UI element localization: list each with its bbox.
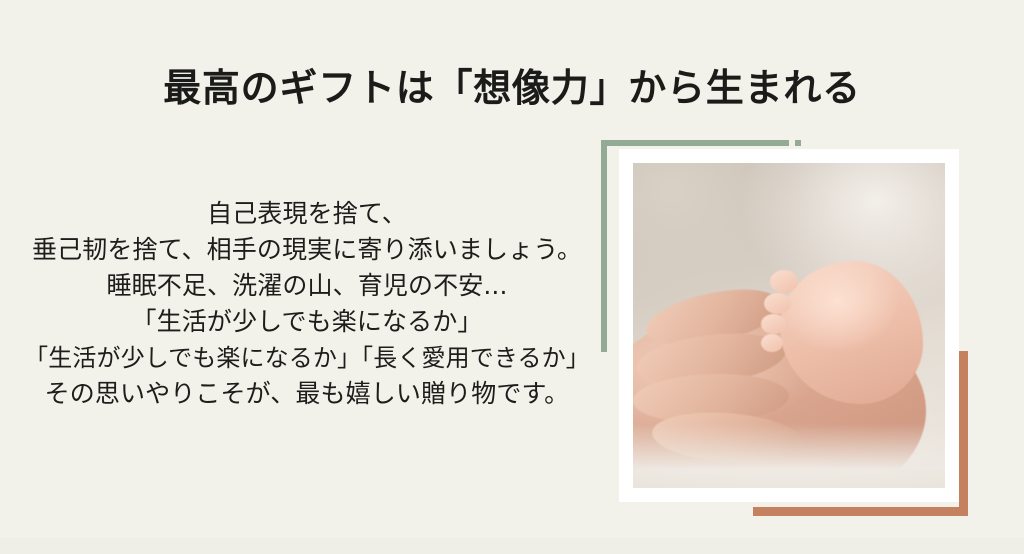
body-line-6: その思いやりこそが、最も嬉しい贈り物です。 xyxy=(24,376,590,412)
body-line-2: 垂己韧を捨て、相手の現実に寄り添いましょう。 xyxy=(24,232,590,268)
photo-card xyxy=(619,149,959,502)
body-line-4: 「生活が少しでも楽になるか」 xyxy=(24,304,590,340)
photo-composition xyxy=(598,137,974,522)
body-line-1: 自己表現を捨て、 xyxy=(24,196,590,232)
body-copy: 自己表現を捨て、 垂己韧を捨て、相手の現実に寄り添いましょう。 睡眠不足、洗濯の… xyxy=(24,196,590,412)
body-line-3: 睡眠不足、洗濯の山、育児の不安... xyxy=(24,268,590,304)
slide-canvas: 最高のギフトは「想像力」から生まれる 自己表現を捨て、 垂己韧を捨て、相手の現実… xyxy=(0,0,1024,554)
photo-vignette xyxy=(633,163,945,488)
body-line-5: 「生活が少しでも楽になるか」「長く愛用できるか」 xyxy=(24,340,590,376)
bottom-edge-band xyxy=(0,538,1024,554)
baby-foot-photo xyxy=(633,163,945,488)
page-title: 最高のギフトは「想像力」から生まれる xyxy=(0,66,1024,112)
